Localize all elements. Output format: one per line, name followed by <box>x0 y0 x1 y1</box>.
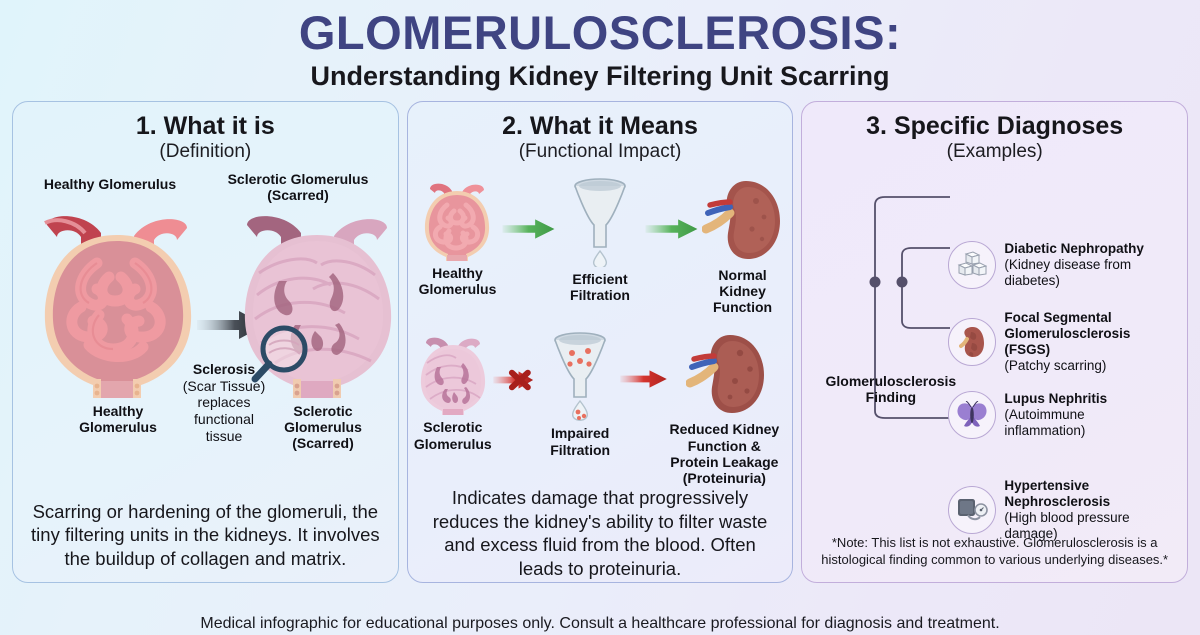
panel-2-description: Indicates damage that progressively redu… <box>408 486 793 583</box>
diagnosis-text-lupus-nephritis: Lupus Nephritis (Autoimmune inflammation… <box>1004 391 1107 439</box>
footer-disclaimer: Medical infographic for educational purp… <box>0 615 1200 633</box>
kidney-normal-icon <box>702 177 784 263</box>
panel-3-note: *Note: This list is not exhaustive. Glom… <box>802 535 1187 583</box>
panel-what-it-means[interactable]: 2. What it Means (Functional Impact) <box>407 101 794 583</box>
flow-item-normal-kidney: Normal Kidney Function <box>699 177 787 316</box>
caption-reduced-kidney: Reduced Kidney Function & Protein Leakag… <box>659 421 789 486</box>
diagnosis-name-2c: (FSGS) <box>1004 342 1130 358</box>
diagnosis-name-2a: Focal Segmental <box>1004 310 1130 326</box>
diagnosis-name-4a: Hypertensive <box>1004 478 1129 494</box>
caption-efficient-filtration: Efficient Filtration <box>570 271 630 303</box>
sugar-cubes-icon-wrap <box>948 241 996 289</box>
caption-t1a: Healthy <box>419 265 497 281</box>
caption-t3a: Normal Kidney <box>699 267 787 299</box>
diagnosis-item-hypertensive-nephrosclerosis[interactable]: Hypertensive Nephrosclerosis (High blood… <box>948 478 1186 542</box>
healthy-glomerulus-icon <box>420 177 494 261</box>
arrow-green-1-icon <box>501 215 556 243</box>
label-scl-bottom-line1: Sclerotic <box>253 403 393 419</box>
arrow-red-icon <box>619 365 668 393</box>
page-title: GLOMERULOSCLEROSIS: <box>0 8 1200 57</box>
callout-line1: (Scar Tissue) <box>169 378 279 395</box>
diagnosis-item-diabetic-nephropathy[interactable]: Diabetic Nephropathy (Kidney disease fro… <box>948 241 1186 289</box>
arrow-green-2-icon <box>644 215 699 243</box>
diagnosis-item-fsgs[interactable]: Focal Segmental Glomerulosclerosis (FSGS… <box>948 310 1186 374</box>
diagnosis-detail-2a: (Patchy scarring) <box>1004 358 1130 374</box>
panel-2-subheading: (Functional Impact) <box>408 142 793 163</box>
blood-pressure-cuff-icon-wrap <box>948 486 996 534</box>
diagnosis-detail-1a: (Kidney disease from <box>1004 257 1144 273</box>
diagnosis-name-2b: Glomerulosclerosis <box>1004 326 1130 342</box>
label-sclerotic-line1: Sclerotic Glomerulus <box>208 171 388 187</box>
caption-b1a: Sclerotic <box>414 419 492 435</box>
caption-t3b: Function <box>699 299 787 315</box>
panel-specific-diagnoses[interactable]: 3. Specific Diagnoses (Examples) <box>801 101 1188 583</box>
panel-1-description: Scarring or hardening of the glomeruli, … <box>13 500 398 582</box>
panel-3-subheading: (Examples) <box>802 142 1187 163</box>
caption-healthy-glomerulus: Healthy Glomerulus <box>419 265 497 297</box>
funnel-clogged-icon <box>548 331 612 421</box>
caption-b3d: (Proteinuria) <box>659 470 789 486</box>
diagnosis-text-diabetic-nephropathy: Diabetic Nephropathy (Kidney disease fro… <box>1004 241 1144 289</box>
panel-2-graphic: Healthy Glomerulus <box>408 163 793 487</box>
diagnosis-name-3: Lupus Nephritis <box>1004 391 1107 407</box>
label-sclerotic-line2: (Scarred) <box>208 187 388 203</box>
label-scl-bottom-line3: (Scarred) <box>253 435 393 451</box>
flow-item-impaired-filtration: Impaired Filtration <box>541 331 619 457</box>
kidney-icon-wrap <box>948 318 996 366</box>
panel-3-graphic: Glomerulosclerosis Finding <box>802 163 1187 535</box>
panel-1-graphic: Healthy Glomerulus Sclerotic Glomerulus … <box>13 163 398 500</box>
caption-t2b: Filtration <box>570 287 630 303</box>
caption-impaired-filtration: Impaired Filtration <box>550 425 610 457</box>
diagnosis-name-1: Diabetic Nephropathy <box>1004 241 1144 257</box>
callout-title: Sclerosis <box>169 361 279 378</box>
page-subtitle: Understanding Kidney Filtering Unit Scar… <box>0 61 1200 92</box>
caption-t2a: Efficient <box>570 271 630 287</box>
panel-1-subheading: (Definition) <box>13 142 398 163</box>
panels-container: 1. What it is (Definition) Healthy Glome… <box>0 92 1200 583</box>
caption-b1b: Glomerulus <box>414 436 492 452</box>
panel-3-header: 3. Specific Diagnoses (Examples) <box>802 102 1187 162</box>
diagnosis-text-fsgs: Focal Segmental Glomerulosclerosis (FSGS… <box>1004 310 1130 374</box>
label-healthy-glomerulus-top: Healthy Glomerulus <box>25 176 195 192</box>
diagnosis-detail-3b: inflammation) <box>1004 423 1107 439</box>
caption-sclerotic-glomerulus: Sclerotic Glomerulus <box>414 419 492 451</box>
diagnosis-name-4b: Nephrosclerosis <box>1004 494 1129 510</box>
diagnosis-detail-3a: (Autoimmune <box>1004 407 1107 423</box>
diagnosis-text-hypertensive-nephrosclerosis: Hypertensive Nephrosclerosis (High blood… <box>1004 478 1129 542</box>
flow-row-sclerotic: Sclerotic Glomerulus <box>408 331 793 486</box>
panel-what-it-is[interactable]: 1. What it is (Definition) Healthy Glome… <box>12 101 399 583</box>
flow-item-reduced-kidney: Reduced Kidney Function & Protein Leakag… <box>668 331 786 486</box>
arrow-red-blocked-icon <box>492 363 541 397</box>
blood-pressure-cuff-icon <box>956 495 988 525</box>
label-sclerotic-glomerulus-bottom: Sclerotic Glomerulus (Scarred) <box>253 403 393 451</box>
diagnosis-detail-4b: damage) <box>1004 526 1129 542</box>
root-label-line1: Glomerulosclerosis <box>808 373 973 389</box>
panel-1-heading: 1. What it is <box>13 113 398 141</box>
caption-b2a: Impaired <box>550 425 610 441</box>
label-scl-bottom-line2: Glomerulus <box>253 419 393 435</box>
panel-2-heading: 2. What it Means <box>408 113 793 141</box>
diagnosis-detail-4a: (High blood pressure <box>1004 510 1129 526</box>
butterfly-icon-wrap <box>948 391 996 439</box>
flow-row-healthy: Healthy Glomerulus <box>408 177 793 316</box>
caption-normal-kidney: Normal Kidney Function <box>699 267 787 316</box>
flow-item-sclerotic-glomerulus: Sclerotic Glomerulus <box>414 331 492 451</box>
caption-b2b: Filtration <box>550 442 610 458</box>
panel-1-header: 1. What it is (Definition) <box>13 102 398 162</box>
flow-item-healthy-glomerulus: Healthy Glomerulus <box>414 177 502 297</box>
kidney-icon <box>959 326 985 358</box>
diagnosis-item-lupus-nephritis[interactable]: Lupus Nephritis (Autoimmune inflammation… <box>948 391 1186 439</box>
panel-3-heading: 3. Specific Diagnoses <box>802 113 1187 141</box>
kidney-damaged-icon <box>686 331 768 417</box>
label-sclerotic-glomerulus-top: Sclerotic Glomerulus (Scarred) <box>208 171 388 203</box>
caption-t1b: Glomerulus <box>419 281 497 297</box>
panel-2-header: 2. What it Means (Functional Impact) <box>408 102 793 162</box>
sugar-cubes-icon <box>957 251 987 279</box>
butterfly-icon <box>956 401 988 429</box>
diagnosis-detail-1b: diabetes) <box>1004 273 1144 289</box>
flow-item-efficient-filtration: Efficient Filtration <box>556 177 644 303</box>
funnel-clean-icon <box>568 177 632 267</box>
caption-b3c: Protein Leakage <box>659 454 789 470</box>
caption-b3b: Function & <box>659 438 789 454</box>
caption-b3a: Reduced Kidney <box>659 421 789 437</box>
header: GLOMERULOSCLEROSIS: Understanding Kidney… <box>0 0 1200 92</box>
sclerotic-glomerulus-icon <box>416 331 490 415</box>
